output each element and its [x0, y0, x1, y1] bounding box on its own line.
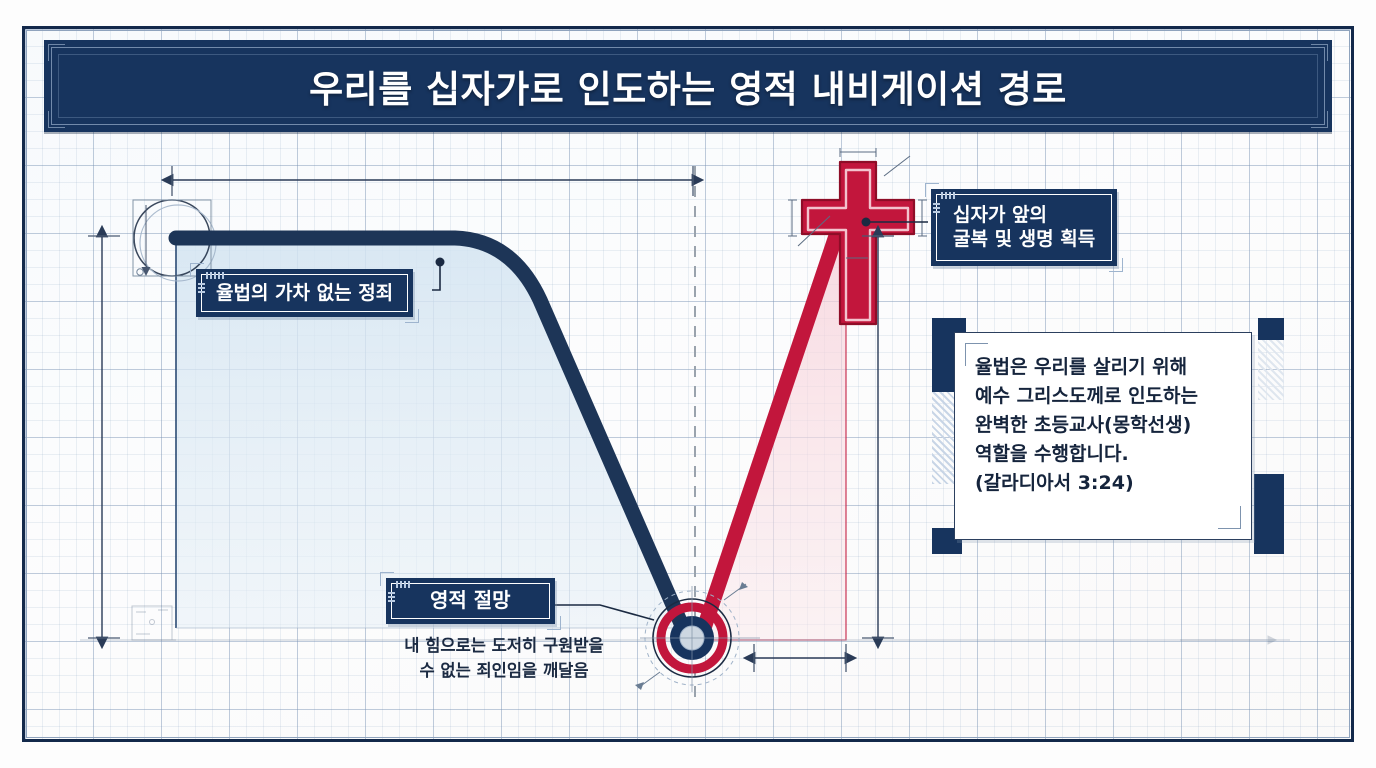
label-cross-surrender-text: 십자가 앞의 굴복 및 생명 획득	[931, 189, 1117, 266]
scripture-quote-card[interactable]: 율법은 우리를 살리기 위해 예수 그리스도께로 인도하는 완벽한 초등교사(몽…	[932, 318, 1284, 554]
quote-block-br	[1254, 474, 1284, 554]
despair-caption: 내 힘으로는 도저히 구원받을 수 없는 죄인임을 깨달음	[384, 634, 624, 684]
label-law-condemnation-text: 율법의 가차 없는 정죄	[196, 269, 413, 317]
dimension-top-horizontal	[172, 166, 693, 196]
quote-block-tr	[1258, 318, 1284, 340]
detail-stamp-right	[1180, 636, 1276, 644]
label-law-condemnation[interactable]: 율법의 가차 없는 정죄	[196, 269, 413, 317]
dimension-bottom-horizontal	[754, 644, 846, 672]
label-cross-surrender[interactable]: 십자가 앞의 굴복 및 생명 획득	[931, 189, 1117, 266]
label-spiritual-despair-text: 영적 절망	[386, 578, 555, 624]
label-spiritual-despair[interactable]: 영적 절망	[386, 578, 555, 624]
detail-stamp-bottom-left	[132, 606, 176, 640]
quote-hatch-right	[1258, 340, 1284, 400]
quote-text: 율법은 우리를 살리기 위해 예수 그리스도께로 인도하는 완벽한 초등교사(몽…	[975, 353, 1237, 497]
dimension-left-vertical	[88, 236, 120, 638]
quote-card-body: 율법은 우리를 살리기 위해 예수 그리스도께로 인도하는 완벽한 초등교사(몽…	[954, 332, 1252, 540]
quote-bracket-br	[1218, 506, 1241, 529]
infographic-canvas: 우리를 십자가로 인도하는 영적 내비게이션 경로	[0, 0, 1376, 768]
